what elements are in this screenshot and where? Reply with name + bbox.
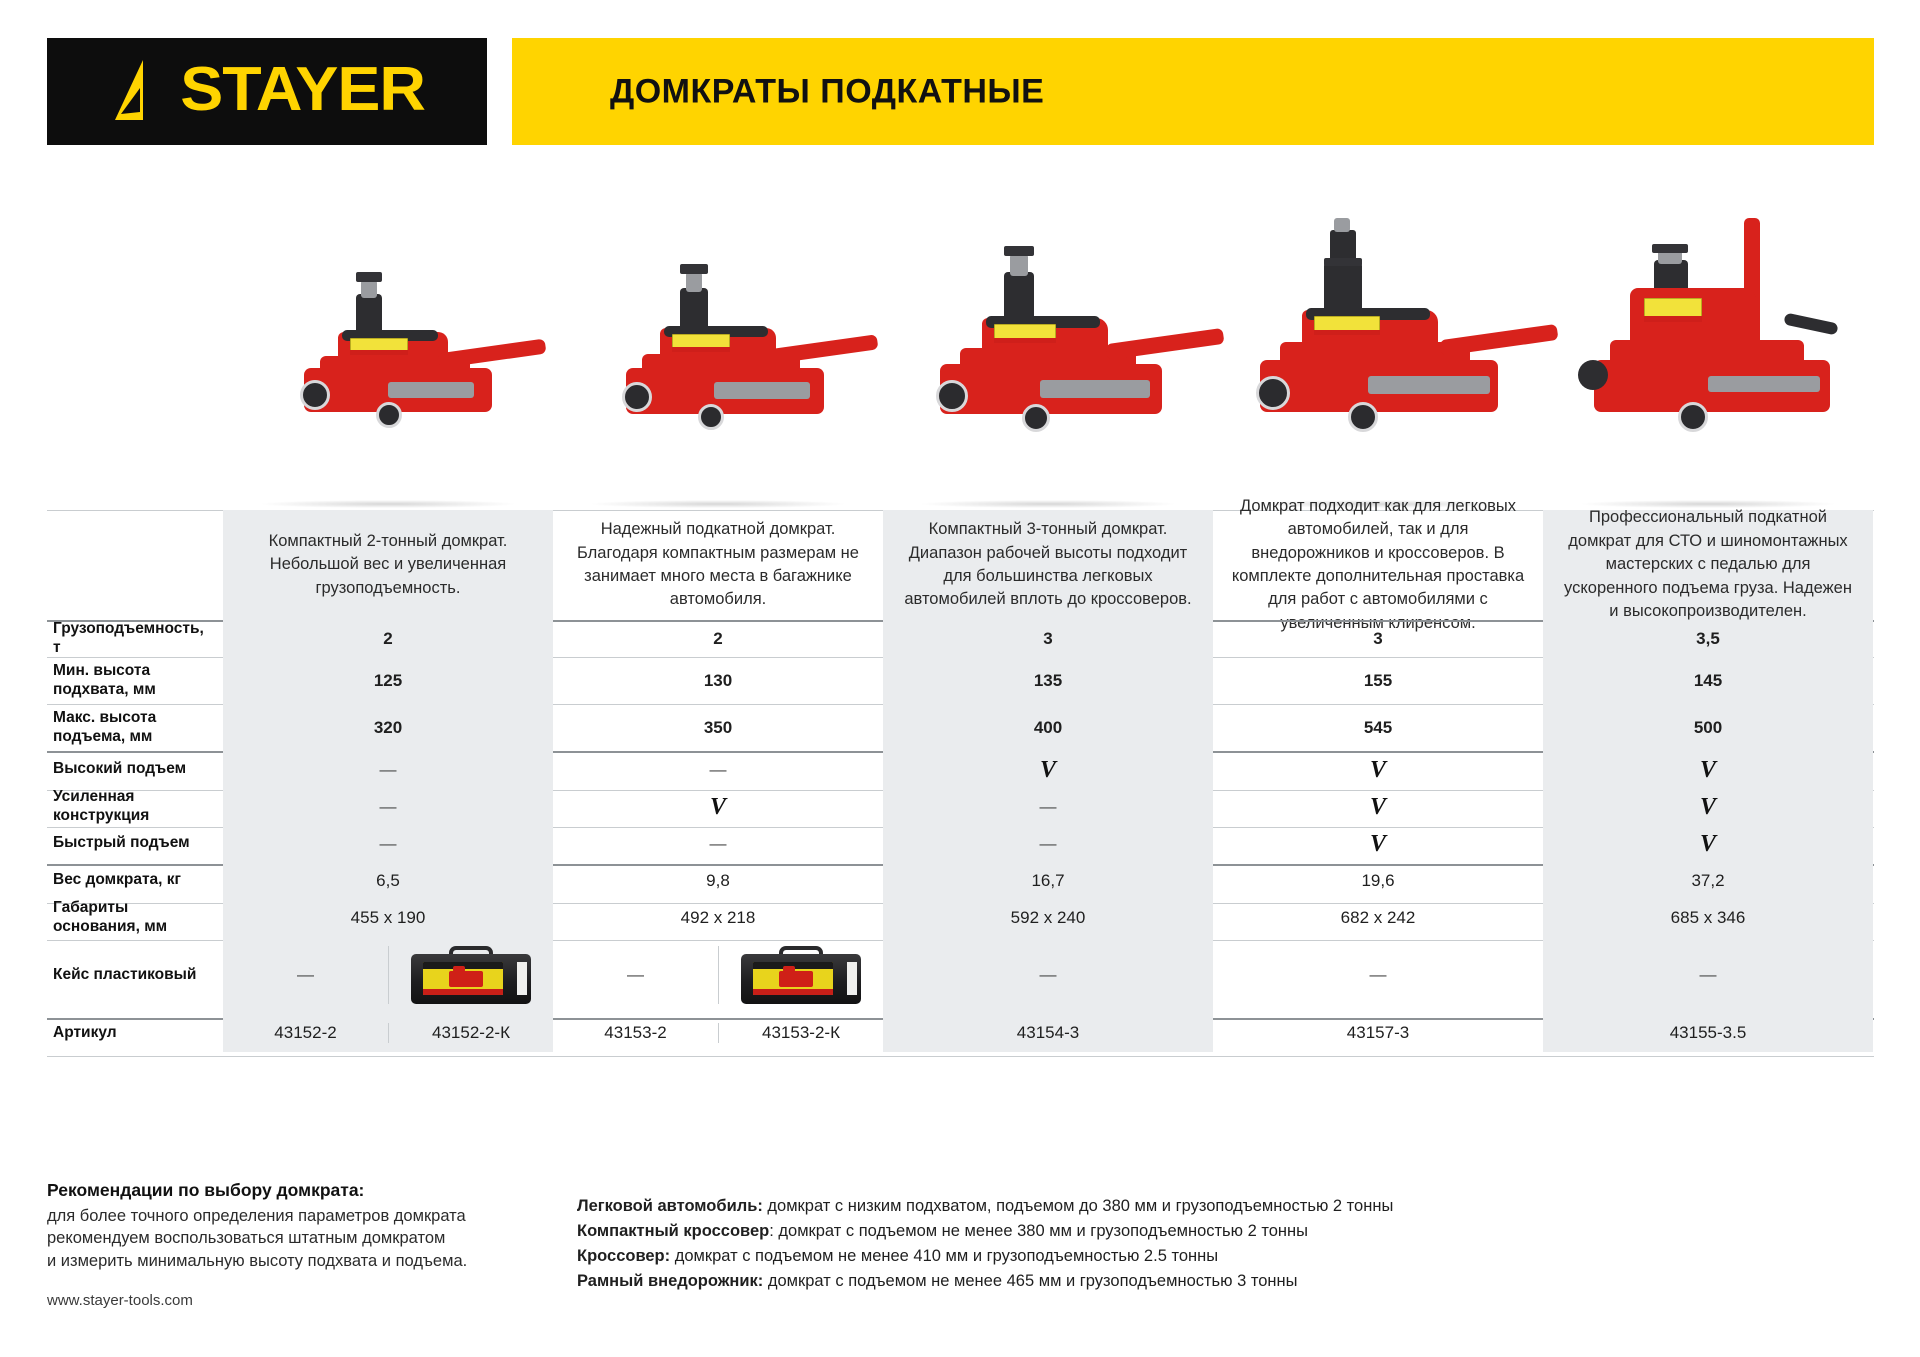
case-value-5: — [1700, 965, 1717, 985]
table-row-capacity: Грузоподъемность, т 2 2 3 3 3,5 [47, 620, 1874, 657]
vehicle-guide-term-3: Кроссовер: [577, 1247, 670, 1265]
cell-weight-3: 16,7 [1031, 871, 1064, 891]
catalog-page: STAYER ДОМКРАТЫ ПОДКАТНЫЕ [0, 0, 1920, 1357]
footer-recommendations-title: Рекомендации по выбору домкрата: [47, 1180, 567, 1201]
cell-base-2: 492 x 218 [681, 908, 756, 928]
footer-recommendations-line-3: и измерить минимальную высоту подхвата и… [47, 1250, 567, 1272]
case-cell-1: — [223, 936, 553, 1014]
vehicle-guide-term-4: Рамный внедорожник: [577, 1272, 763, 1290]
cell-base-4: 682 x 242 [1341, 908, 1416, 928]
cell-high-lift-3: V [1040, 758, 1056, 782]
row-label-min-height: Мин. высота подхвата, мм [47, 657, 223, 704]
spacer-cell [47, 165, 223, 510]
description-cell-1: Компактный 2-тонный домкрат. Небольшой в… [223, 510, 553, 620]
cell-max-height-3: 400 [1034, 718, 1062, 738]
footer-vehicle-guide: Легковой автомобиль: домкрат с низким по… [577, 1194, 1867, 1294]
cell-fast-lift-2: — [710, 834, 727, 854]
cell-max-height-1: 320 [374, 718, 402, 738]
table-row-descriptions: Компактный 2-тонный домкрат. Небольшой в… [47, 510, 1874, 620]
table-row-reinforced: Усиленная конструкция — V — V V [47, 788, 1874, 825]
cell-high-lift-2: — [710, 760, 727, 780]
vehicle-guide-item-3: Кроссовер: домкрат с подъемом не менее 4… [577, 1244, 1867, 1269]
cell-weight-1: 6,5 [376, 871, 400, 891]
cell-reinforced-4: V [1370, 795, 1386, 819]
cell-min-height-5: 145 [1694, 671, 1722, 691]
row-label-reinforced: Усиленная конструкция [47, 788, 223, 825]
cell-fast-lift-4: V [1370, 832, 1386, 856]
row-label-fast-lift: Быстрый подъем [47, 825, 223, 862]
table-row-fast-lift: Быстрый подъем — — — V V [47, 825, 1874, 862]
table-row-weight: Вес домкрата, кг 6,5 9,8 16,7 19,6 37,2 [47, 862, 1874, 899]
footer-recommendations-line-2: рекомендуем воспользоваться штатным домк… [47, 1227, 567, 1249]
cell-high-lift-1: — [380, 760, 397, 780]
cell-capacity-2: 2 [713, 629, 722, 649]
footer-website-url[interactable]: www.stayer-tools.com [47, 1292, 567, 1309]
article-value-1a: 43152-2 [274, 1023, 336, 1043]
footer-recommendations: Рекомендации по выбору домкрата: для бол… [47, 1180, 567, 1309]
cell-weight-5: 37,2 [1691, 871, 1724, 891]
cell-high-lift-5: V [1700, 758, 1716, 782]
stayer-triangle-icon [113, 58, 175, 122]
case-value-4: — [1370, 965, 1387, 985]
product-image-row [47, 165, 1874, 510]
row-label-article: Артикул [47, 1014, 223, 1052]
cell-weight-2: 9,8 [706, 871, 730, 891]
product-image-floor-jack-2t-compact [223, 165, 553, 510]
table-row-plastic-case: Кейс пластиковый — — [47, 936, 1874, 1014]
cell-min-height-3: 135 [1034, 671, 1062, 691]
description-cell-4: Домкрат подходит как для легковых автомо… [1213, 510, 1543, 620]
cell-base-5: 685 x 346 [1671, 908, 1746, 928]
cell-high-lift-4: V [1370, 758, 1386, 782]
footer-recommendations-line-1: для более точного определения параметров… [47, 1205, 567, 1227]
cell-capacity-5: 3,5 [1696, 629, 1720, 649]
article-value-2b: 43153-2-К [762, 1023, 840, 1043]
cell-min-height-1: 125 [374, 671, 402, 691]
brand-logo-text: STAYER [181, 59, 426, 121]
cell-base-1: 455 x 190 [351, 908, 426, 928]
vehicle-guide-text-3: домкрат с подъемом не менее 410 мм и гру… [670, 1247, 1218, 1265]
cell-capacity-1: 2 [383, 629, 392, 649]
row-label-high-lift: Высокий подъем [47, 751, 223, 788]
product-image-floor-jack-35t-professional [1543, 165, 1873, 510]
product-image-floor-jack-3t-compact [883, 165, 1213, 510]
cell-max-height-5: 500 [1694, 718, 1722, 738]
cell-capacity-3: 3 [1043, 629, 1052, 649]
article-cell-1: 43152-2 43152-2-К [223, 1014, 553, 1052]
vehicle-guide-text-4: домкрат с подъемом не менее 465 мм и гру… [763, 1272, 1297, 1290]
cell-fast-lift-5: V [1700, 832, 1716, 856]
article-cell-2: 43153-2 43153-2-К [553, 1014, 883, 1052]
page-title: ДОМКРАТЫ ПОДКАТНЫЕ [610, 72, 1044, 111]
article-value-5: 43155-3.5 [1670, 1023, 1747, 1043]
header-title-bar: ДОМКРАТЫ ПОДКАТНЫЕ [512, 38, 1874, 145]
case-value-3: — [1040, 965, 1057, 985]
cell-max-height-4: 545 [1364, 718, 1392, 738]
description-cell-5: Профессиональный подкатной домкрат для С… [1543, 510, 1873, 620]
cell-max-height-2: 350 [704, 718, 732, 738]
table-row-min-height: Мин. высота подхвата, мм 125 130 135 155… [47, 657, 1874, 704]
vehicle-guide-term-1: Легковой автомобиль: [577, 1197, 763, 1215]
vehicle-guide-term-2: Компактный кроссовер [577, 1222, 769, 1240]
article-value-3: 43154-3 [1017, 1023, 1079, 1043]
vehicle-guide-item-2: Компактный кроссовер: домкрат с подъемом… [577, 1219, 1867, 1244]
vehicle-guide-item-1: Легковой автомобиль: домкрат с низким по… [577, 1194, 1867, 1219]
case-value-2a: — [627, 965, 644, 985]
product-image-floor-jack-3t-highlift [1213, 165, 1543, 510]
cell-min-height-4: 155 [1364, 671, 1392, 691]
row-label-plastic-case: Кейс пластиковый [47, 936, 223, 1014]
table-row-article: Артикул 43152-2 43152-2-К 43153-2 43153-… [47, 1014, 1874, 1052]
cell-fast-lift-3: — [1040, 834, 1057, 854]
description-cell-2: Надежный подкатной домкрат. Благодаря ко… [553, 510, 883, 620]
cell-reinforced-1: — [380, 797, 397, 817]
brand-logo: STAYER [47, 38, 487, 145]
table-row-base-dimensions: Габариты основания, мм 455 x 190 492 x 2… [47, 899, 1874, 936]
cell-reinforced-5: V [1700, 795, 1716, 819]
article-value-1b: 43152-2-К [432, 1023, 510, 1043]
row-label-weight: Вес домкрата, кг [47, 862, 223, 899]
cell-base-3: 592 x 240 [1011, 908, 1086, 928]
article-value-4: 43157-3 [1347, 1023, 1409, 1043]
plastic-case-icon [741, 946, 861, 1004]
plastic-case-icon [411, 946, 531, 1004]
vehicle-guide-text-1: домкрат с низким подхватом, подъемом до … [763, 1197, 1394, 1215]
row-label-description [47, 510, 223, 620]
table-row-high-lift: Высокий подъем — — V V V [47, 751, 1874, 788]
article-value-2a: 43153-2 [604, 1023, 666, 1043]
cell-weight-4: 19,6 [1361, 871, 1394, 891]
row-label-max-height: Макс. высота подъема, мм [47, 704, 223, 751]
case-cell-2: — [553, 936, 883, 1014]
page-header: STAYER ДОМКРАТЫ ПОДКАТНЫЕ [47, 38, 1874, 145]
cell-reinforced-2: V [710, 795, 726, 819]
description-cell-3: Компактный 3-тонный домкрат. Диапазон ра… [883, 510, 1213, 620]
case-value-1a: — [297, 965, 314, 985]
row-label-base-dimensions: Габариты основания, мм [47, 899, 223, 936]
comparison-table: Компактный 2-тонный домкрат. Небольшой в… [47, 510, 1874, 1052]
product-image-floor-jack-2t-reinforced [553, 165, 883, 510]
cell-reinforced-3: — [1040, 797, 1057, 817]
row-label-capacity: Грузоподъемность, т [47, 620, 223, 657]
cell-fast-lift-1: — [380, 834, 397, 854]
table-row-max-height: Макс. высота подъема, мм 320 350 400 545… [47, 704, 1874, 751]
cell-capacity-4: 3 [1373, 629, 1382, 649]
vehicle-guide-text-2: : домкрат с подъемом не менее 380 мм и г… [769, 1222, 1308, 1240]
cell-min-height-2: 130 [704, 671, 732, 691]
vehicle-guide-item-4: Рамный внедорожник: домкрат с подъемом н… [577, 1269, 1867, 1294]
